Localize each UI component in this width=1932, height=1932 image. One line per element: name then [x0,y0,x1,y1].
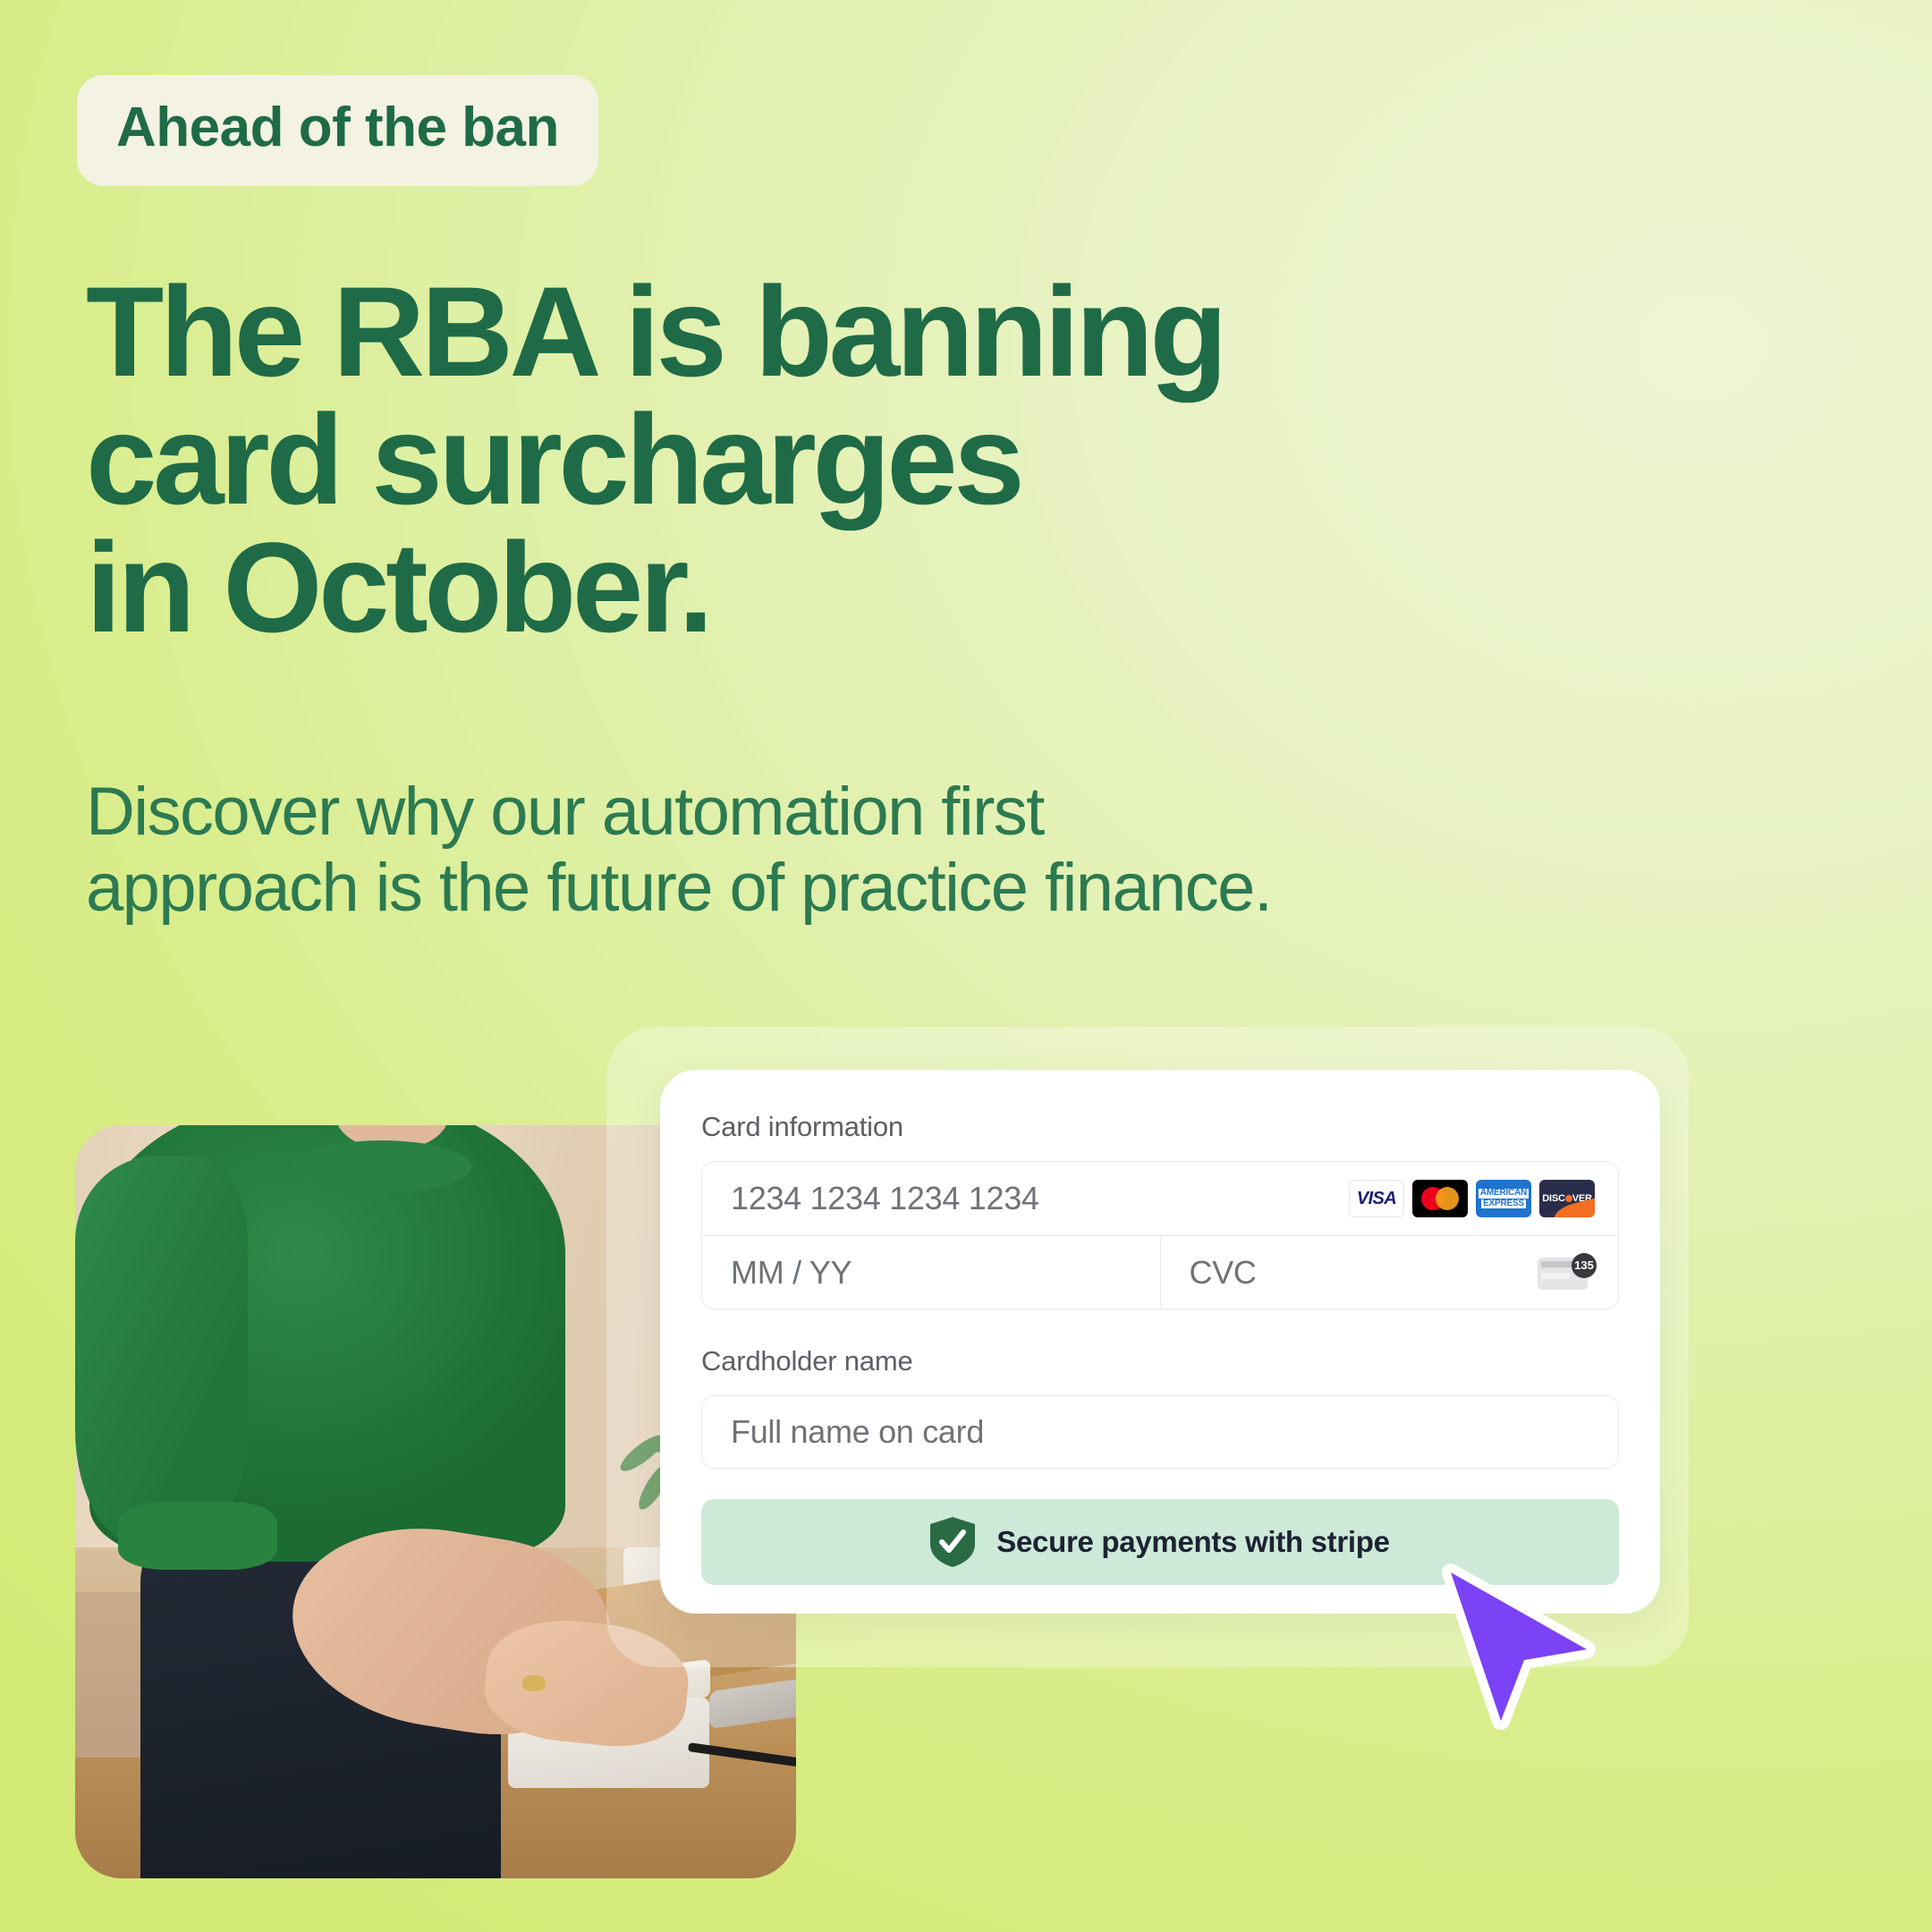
card-information-group: 1234 1234 1234 1234 VISA AMERICAN EXPRES… [701,1161,1619,1309]
payment-form-card: Card information 1234 1234 1234 1234 VIS… [660,1070,1660,1614]
amex-logo-line-2: EXPRESS [1481,1199,1526,1209]
cardholder-name-field[interactable]: Full name on card [701,1395,1619,1469]
photo-sleeve [75,1156,248,1547]
headline-line-2: card surcharges [86,396,1535,524]
visa-logo-text: VISA [1357,1189,1396,1209]
cvc-hint-icon: 135 [1538,1254,1595,1292]
cvc-signature-line [1541,1273,1570,1279]
headline-line-1: The RBA is banning [86,268,1535,396]
page-title: The RBA is banning card surcharges in Oc… [86,268,1535,652]
mastercard-right-circle [1436,1187,1459,1210]
discover-o-dot [1565,1195,1572,1202]
eyebrow-badge-label: Ahead of the ban [116,100,559,156]
card-expiry-cell[interactable]: MM / YY [702,1236,1160,1309]
photo-ring [522,1675,546,1692]
card-information-label: Card information [701,1111,1619,1143]
card-cvc-input[interactable]: CVC [1161,1254,1538,1292]
photo-collar [292,1140,472,1193]
secure-payments-label: Secure payments with stripe [996,1525,1389,1559]
shield-check-icon [930,1517,975,1567]
card-expiry-input[interactable]: MM / YY [702,1254,1160,1292]
eyebrow-badge: Ahead of the ban [77,75,598,186]
cvc-number-badge: 135 [1572,1253,1597,1278]
amex-logo: AMERICAN EXPRESS [1476,1180,1531,1217]
visa-logo: VISA [1349,1180,1404,1217]
amex-logo-line-1: AMERICAN [1479,1189,1529,1199]
pointer-arrow-cursor [1438,1563,1599,1733]
subhead-line-1: Discover why our automation first [86,774,1767,850]
subhead-line-2: approach is the future of practice finan… [86,850,1767,926]
poster-canvas: Ahead of the ban The RBA is banning card… [0,0,1932,1932]
headline-line-3: in October. [86,524,1535,652]
card-number-row[interactable]: 1234 1234 1234 1234 VISA AMERICAN EXPRES… [702,1162,1618,1235]
card-number-input[interactable]: 1234 1234 1234 1234 [702,1180,1349,1217]
expiry-cvc-row: MM / YY CVC 135 [702,1235,1618,1309]
accepted-card-brands: VISA AMERICAN EXPRESS DISCVER [1349,1180,1618,1217]
mastercard-logo [1412,1180,1468,1217]
page-subtitle: Discover why our automation first approa… [86,774,1767,926]
cardholder-name-label: Cardholder name [701,1345,1619,1377]
photo-cuff [118,1502,276,1570]
cardholder-name-input[interactable]: Full name on card [702,1413,984,1451]
card-cvc-cell[interactable]: CVC 135 [1160,1236,1619,1309]
discover-logo: DISCVER [1539,1180,1595,1217]
